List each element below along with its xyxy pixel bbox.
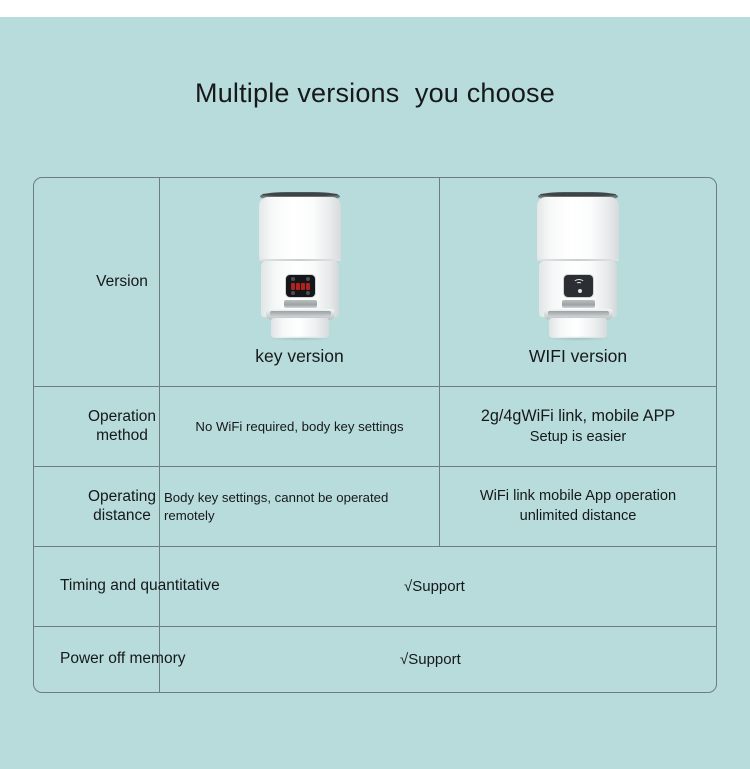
feeder-hopper — [259, 197, 341, 261]
wifi-icon — [573, 279, 585, 288]
cell-operation-method-wifi-version: 2g/4gWiFi link, mobile APP Setup is easi… — [440, 387, 716, 466]
cell-text-line: Setup is easier — [530, 428, 627, 448]
row-label-version-text: Version — [96, 273, 148, 292]
cell-power-off-memory-support: √Support — [400, 627, 461, 692]
page-title: Multiple versions you choose — [0, 78, 750, 109]
cell-operating-distance-wifi-version: WiFi link mobile App operation unlimited… — [440, 467, 716, 546]
cell-operating-distance-key-version: Body key settings, cannot be operated re… — [160, 467, 439, 546]
feeder-indicator-dot — [578, 289, 582, 293]
cell-text-line: No WiFi required, body key settings — [195, 418, 403, 435]
version-name-wifi-version: WIFI version — [529, 346, 627, 367]
feeder-button-dot — [291, 291, 295, 295]
feeder-shadow — [546, 336, 610, 341]
cell-text-line: Body key settings, cannot be operated re… — [164, 489, 437, 523]
pet-feeder-wifi-version-icon — [526, 190, 630, 342]
feeder-button-dot — [306, 277, 310, 281]
pet-feeder-key-version-icon — [248, 190, 352, 342]
cell-timing-and-quantitative-support: √Support — [404, 547, 465, 626]
cell-version-wifi-version: WIFI version — [440, 178, 716, 386]
feeder-chute — [284, 300, 317, 308]
feeder-shadow — [268, 336, 332, 341]
cell-version-key-version: key version — [160, 178, 439, 386]
version-name-key-version: key version — [255, 346, 344, 367]
feeder-button-dot — [306, 291, 310, 295]
cell-text-line: WiFi link mobile App operation — [480, 487, 676, 507]
feeder-led-digits — [289, 282, 312, 290]
cell-text-line: 2g/4gWiFi link, mobile APP — [481, 406, 675, 428]
feeder-base — [549, 318, 607, 338]
support-value: √Support — [400, 651, 461, 668]
feeder-tray-inner — [548, 311, 609, 316]
row-label-timing-and-quantitative-text: Timing and quantitative — [60, 577, 220, 596]
feeder-chute — [562, 300, 595, 308]
cell-operation-method-key-version: No WiFi required, body key settings — [160, 387, 439, 466]
feeder-hopper — [537, 197, 619, 261]
comparison-table: Version — [33, 177, 717, 693]
row-label-power-off-memory-text: Power off memory — [60, 650, 185, 669]
page-root: Multiple versions you choose Version — [0, 0, 750, 769]
feeder-button-dot — [291, 277, 295, 281]
cell-text-line: unlimited distance — [520, 507, 637, 527]
feeder-base — [271, 318, 329, 338]
feeder-tray-inner — [270, 311, 331, 316]
row-label-timing-and-quantitative: Timing and quantitative — [34, 547, 274, 626]
row-label-operating-distance-text: Operating distance — [88, 488, 156, 526]
feeder-wifi-display-panel — [564, 275, 593, 297]
row-label-operation-method-text: Operation method — [88, 408, 156, 446]
row-label-power-off-memory: Power off memory — [34, 627, 274, 692]
feeder-lid-highlight — [262, 193, 338, 196]
feeder-led-display-panel — [286, 275, 315, 297]
feeder-lid-highlight — [540, 193, 616, 196]
support-value: √Support — [404, 578, 465, 595]
